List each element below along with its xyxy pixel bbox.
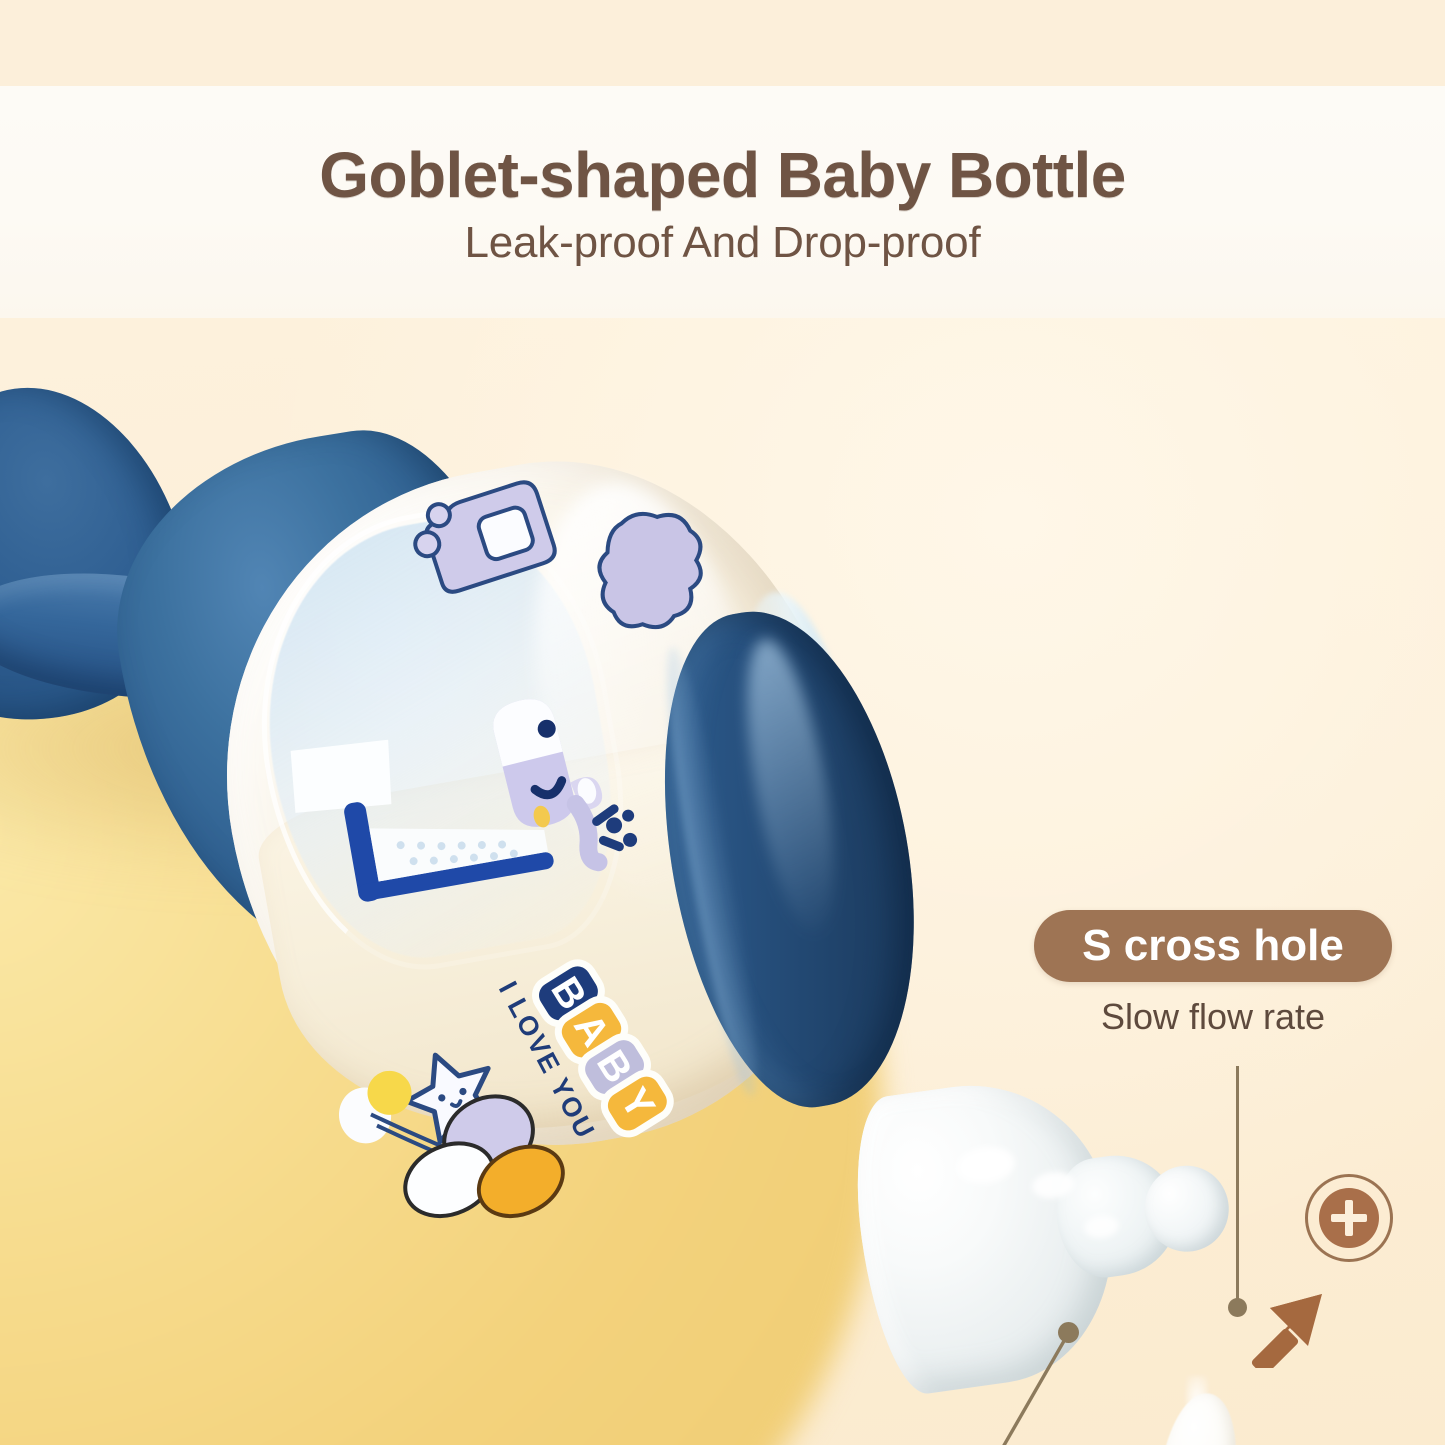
plus-vertical-bar: [1345, 1200, 1353, 1236]
header: Goblet-shaped Baby Bottle Leak-proof And…: [0, 86, 1445, 320]
connector-dot-silicone-material: [1058, 1322, 1079, 1343]
plus-in-circle-icon: [1305, 1174, 1393, 1262]
milk-droplet: [1156, 1388, 1245, 1445]
connector-line-s-cross-hole: [1236, 1066, 1239, 1304]
baby-bottle: I LOVE YOU B A B Y: [0, 318, 1445, 1445]
status-badge-s-cross-hole: S cross hole: [1034, 910, 1392, 982]
header-top-strip: [0, 0, 1445, 88]
connector-dot-s-cross-hole: [1228, 1298, 1247, 1317]
page-title: Goblet-shaped Baby Bottle: [319, 138, 1125, 212]
caption-slow-flow-rate: Slow flow rate: [1034, 996, 1392, 1038]
connector-line-silicone-material: [972, 1330, 1072, 1445]
arrow-up-right-icon: [1248, 1258, 1358, 1368]
product-photo: I LOVE YOU B A B Y: [0, 318, 1445, 1445]
page-subtitle: Leak-proof And Drop-proof: [465, 218, 981, 268]
